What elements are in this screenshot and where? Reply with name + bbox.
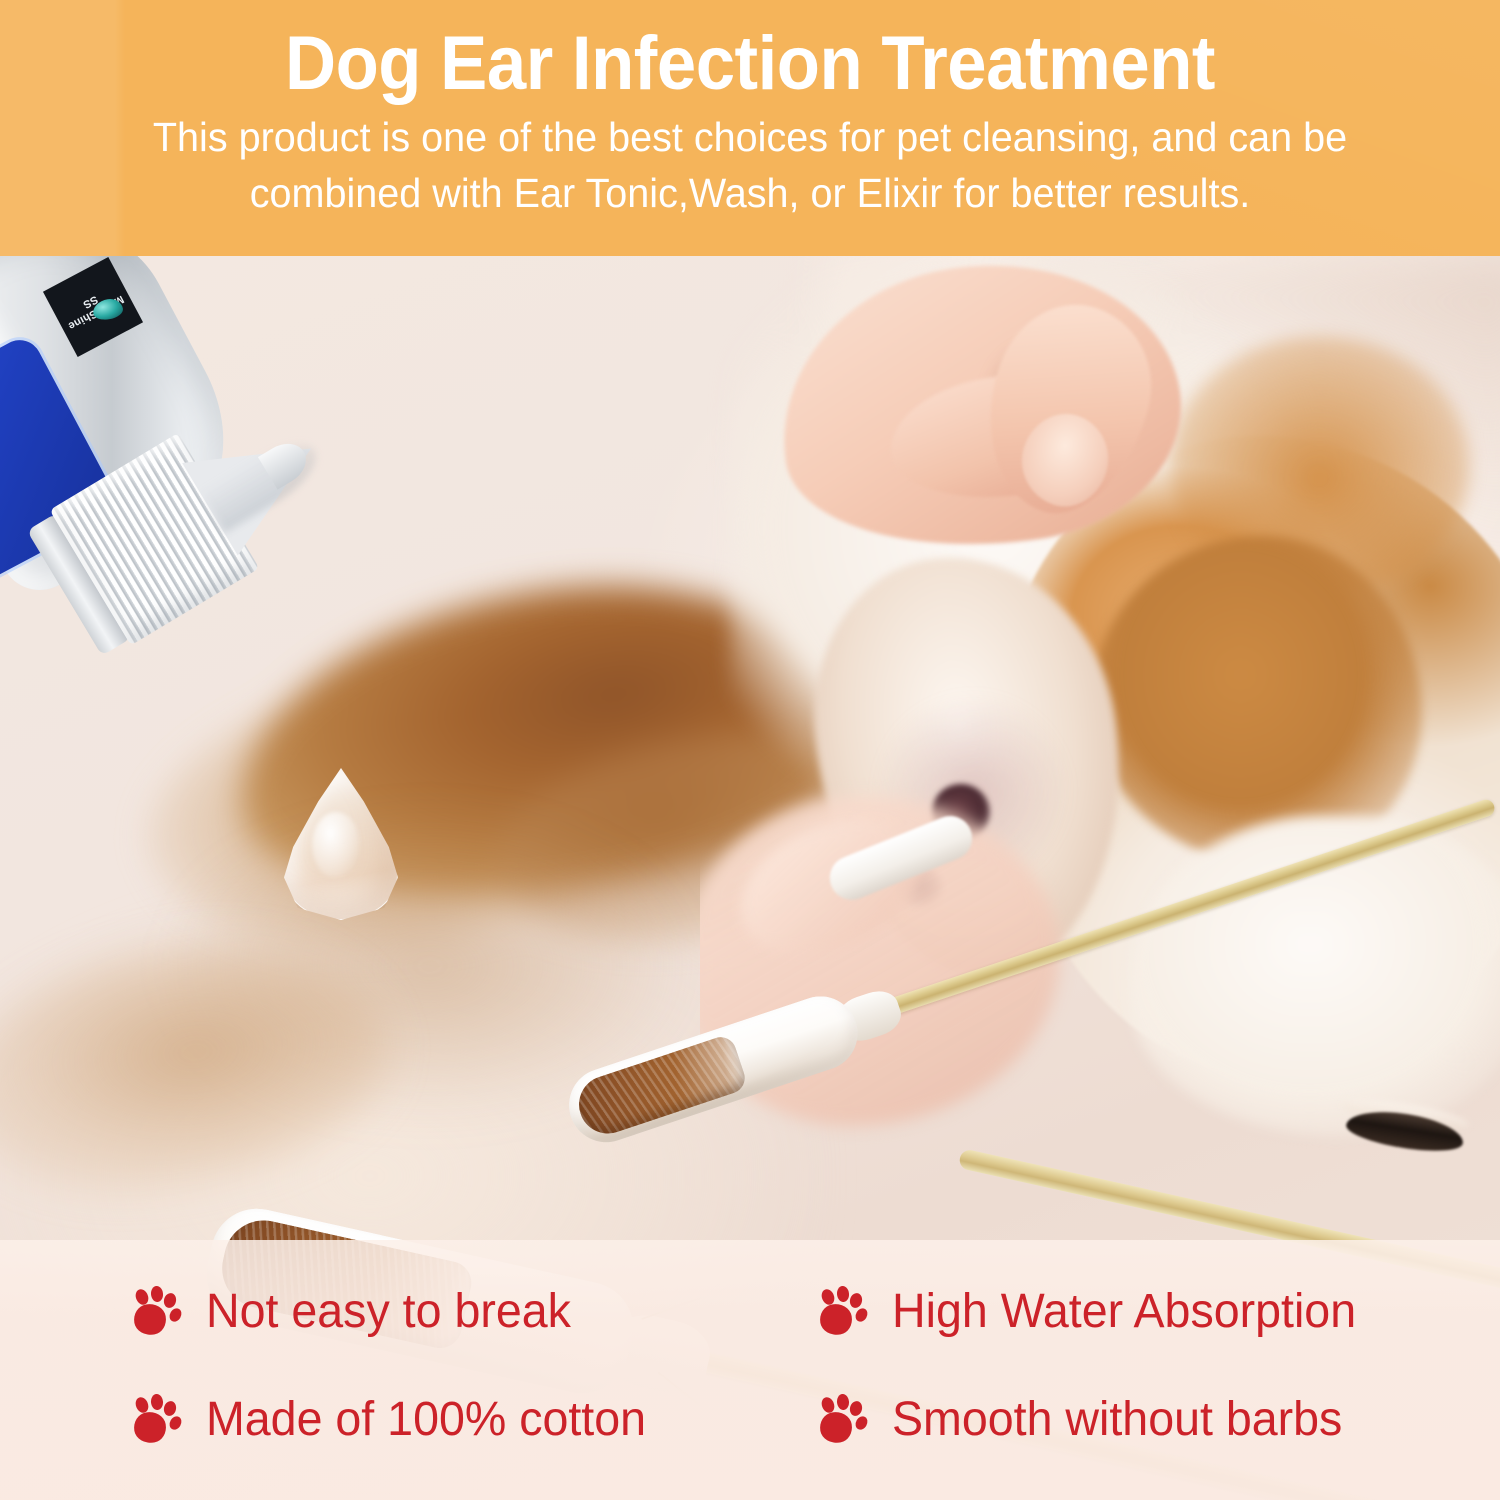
feature-item-smooth-without-barbs: Smooth without barbs (750, 1394, 1500, 1447)
hand-holding-ear (760, 266, 1240, 706)
liquid-droplet-highlight (312, 812, 360, 878)
ear-cleaner-bottle: MicroShine SS (0, 256, 450, 770)
feature-item-not-easy-to-break: Not easy to break (0, 1286, 750, 1339)
page-subtitle: This product is one of the best choices … (26, 110, 1474, 222)
paw-icon (132, 1394, 184, 1446)
product-poster: Dog Ear Infection Treatment This product… (0, 0, 1500, 1500)
feature-list: Not easy to break High Water Absorption … (0, 1240, 1500, 1500)
feature-item-made-of-cotton: Made of 100% cotton (0, 1394, 750, 1447)
paw-icon (818, 1286, 870, 1338)
feature-item-high-water-absorption: High Water Absorption (750, 1286, 1500, 1339)
feature-label: Not easy to break (206, 1286, 571, 1339)
feature-label: Made of 100% cotton (206, 1394, 646, 1447)
feature-label: High Water Absorption (892, 1286, 1356, 1339)
header-banner: Dog Ear Infection Treatment This product… (0, 0, 1500, 256)
paw-icon (132, 1286, 184, 1338)
paw-icon (818, 1394, 870, 1446)
page-title: Dog Ear Infection Treatment (53, 26, 1448, 102)
subtitle-line-1: This product is one of the best choices … (71, 110, 1430, 166)
feature-label: Smooth without barbs (892, 1394, 1342, 1447)
subtitle-line-2: combined with Ear Tonic,Wash, or Elixir … (71, 166, 1430, 222)
dog-ear-cleaning-scene (700, 256, 1500, 1256)
